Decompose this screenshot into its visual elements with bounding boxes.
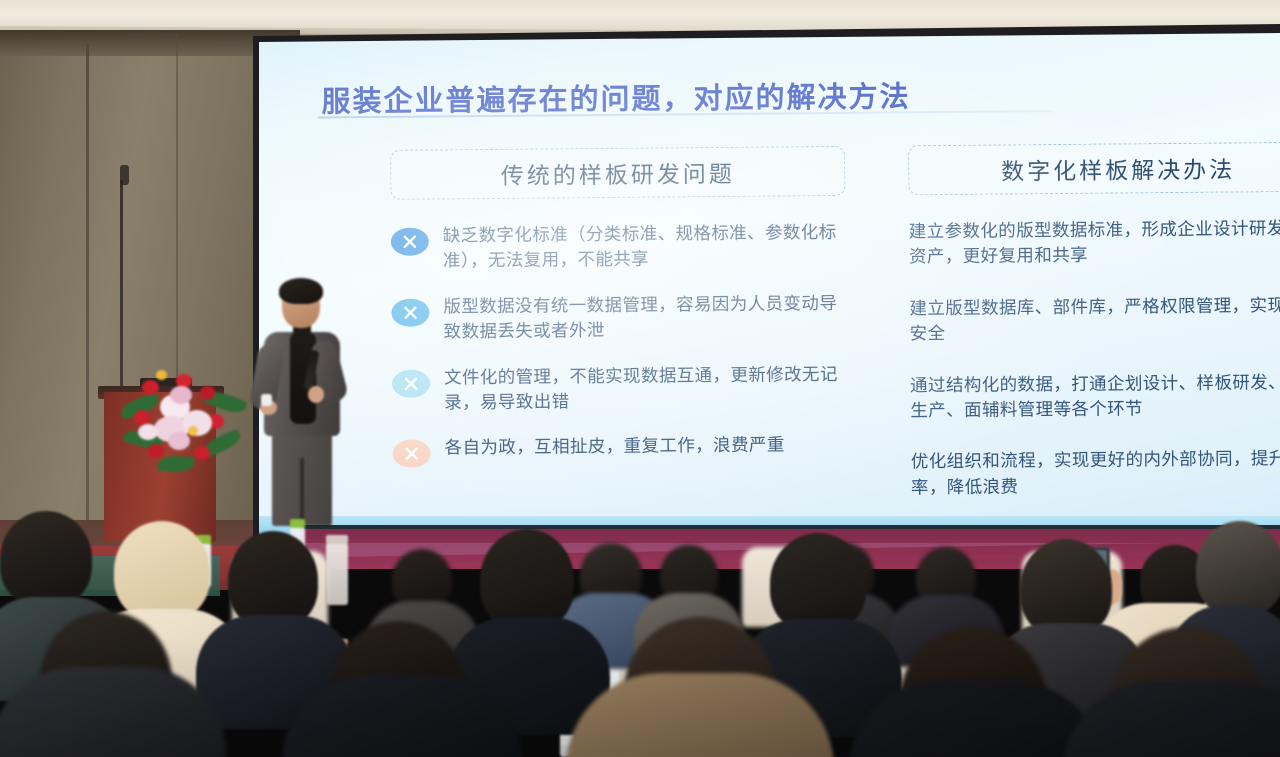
solution-item-text: 建立版型数据库、部件库，严格权限管理，实现数据安全	[909, 292, 1280, 346]
presentation-clicker	[261, 394, 272, 406]
cross-circle-icon	[391, 298, 429, 326]
solution-item: 通过结构化的数据，打通企划设计、样板研发、工艺生产、面辅料管理等各个环节	[910, 369, 1280, 423]
cross-circle-icon	[391, 228, 429, 256]
audience-head	[114, 521, 210, 621]
thermos	[326, 543, 348, 605]
right-column-heading-box: 数字化样板解决办法	[908, 142, 1280, 196]
presenter-right-hand	[308, 386, 324, 403]
problem-item: 文件化的管理，不能实现数据互通，更新修改无记录，易导致出错	[392, 361, 847, 416]
wall-seam	[86, 44, 89, 524]
solution-item: 建立版型数据库、部件库，严格权限管理，实现数据安全	[909, 292, 1280, 346]
audience	[0, 457, 1280, 757]
problem-item-text: 缺乏数字化标准（分类标准、规格标准、参数化标准），无法复用，不能共享	[443, 220, 846, 274]
cross-circle-icon	[392, 369, 430, 397]
conference-photo: 服装企业普遍存在的问题，对应的解决方法 传统的样板研发问题 缺乏数字化标准（分类…	[0, 0, 1280, 757]
left-column-items: 缺乏数字化标准（分类标准、规格标准、参数化标准），无法复用，不能共享 版型数据没…	[391, 220, 848, 468]
problem-item: 版型数据没有统一数据管理，容易因为人员变动导致数据丢失或者外泄	[391, 291, 846, 346]
mic-stand-head	[120, 165, 129, 185]
problem-item-text: 版型数据没有统一数据管理，容易因为人员变动导致数据丢失或者外泄	[443, 291, 846, 345]
audience-head	[770, 533, 866, 633]
problem-item: 缺乏数字化标准（分类标准、规格标准、参数化标准），无法复用，不能共享	[391, 220, 846, 275]
audience-head	[1196, 521, 1280, 617]
left-column-heading: 传统的样板研发问题	[401, 154, 834, 192]
audience-head	[0, 511, 92, 607]
left-column: 传统的样板研发问题 缺乏数字化标准（分类标准、规格标准、参数化标准），无法复用，…	[390, 146, 848, 488]
right-column-heading: 数字化样板解决办法	[919, 150, 1280, 187]
solution-item-text: 建立参数化的版型数据标准，形成企业设计研发数据资产，更好复用和共享	[909, 216, 1280, 270]
solution-item-text: 通过结构化的数据，打通企划设计、样板研发、工艺生产、面辅料管理等各个环节	[910, 369, 1280, 423]
audience-head	[480, 529, 574, 631]
left-column-heading-box: 传统的样板研发问题	[390, 146, 845, 200]
solution-item: 建立参数化的版型数据标准，形成企业设计研发数据资产，更好复用和共享	[909, 216, 1280, 270]
problem-item-text: 文件化的管理，不能实现数据互通，更新修改无记录，易导致出错	[444, 361, 847, 415]
presenter-hair	[279, 278, 323, 304]
